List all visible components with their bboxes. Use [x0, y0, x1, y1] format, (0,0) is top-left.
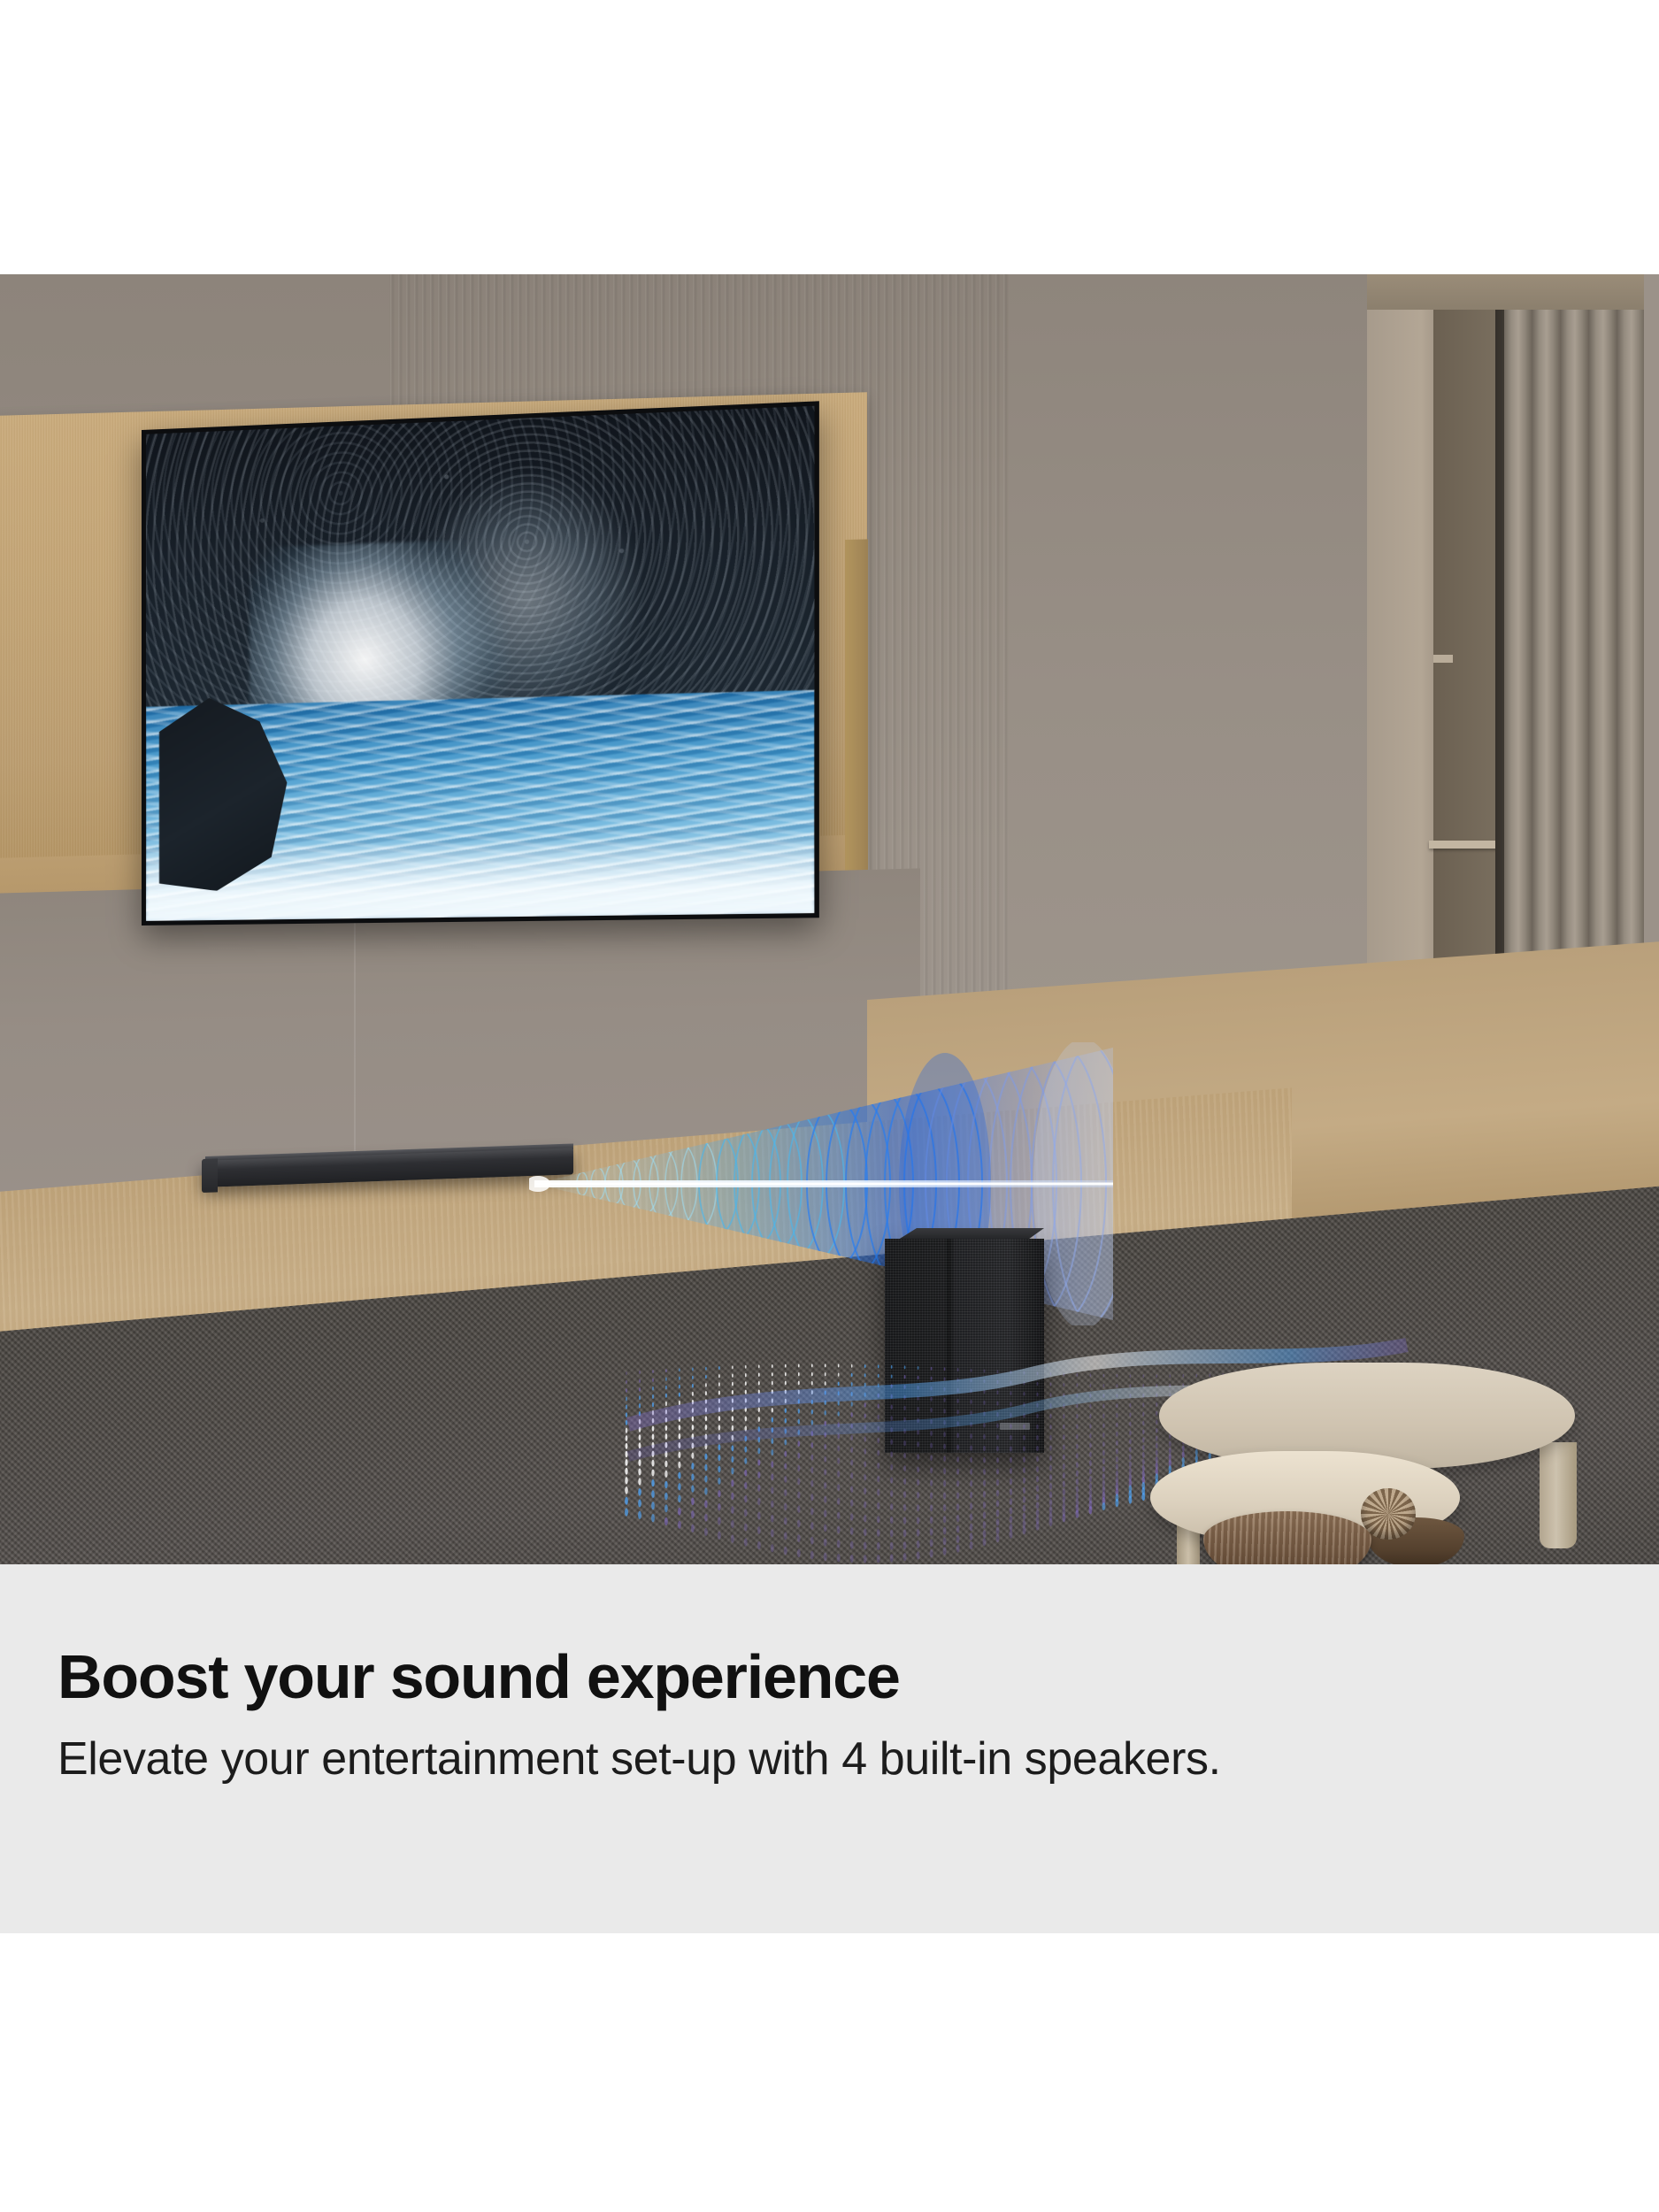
caption-text-block: Boost your sound experience Elevate your…	[58, 1646, 1615, 1786]
rear-speaker	[885, 1239, 1044, 1453]
rear-speaker-logo	[1000, 1423, 1030, 1430]
carved-wooden-bowl	[1203, 1511, 1371, 1564]
top-white-band	[0, 0, 1659, 274]
page-subtitle: Elevate your entertainment set-up with 4…	[58, 1733, 1615, 1785]
oak-panel-edge	[845, 539, 868, 920]
tv-screen	[146, 406, 815, 921]
caption-panel: Boost your sound experience Elevate your…	[0, 1564, 1659, 1933]
doorway-header	[1367, 274, 1659, 310]
lifestyle-photo	[0, 274, 1659, 1564]
doorway-shelf-upper	[1433, 655, 1453, 663]
rear-speaker-mesh	[885, 1239, 1044, 1453]
bottom-white-band	[0, 1933, 1659, 2212]
large-table-leg-right	[1540, 1442, 1577, 1548]
soundbar-left-cap	[202, 1158, 218, 1193]
product-feature-card: Boost your sound experience Elevate your…	[0, 0, 1659, 2212]
television	[142, 401, 819, 926]
page-title: Boost your sound experience	[58, 1646, 1615, 1709]
